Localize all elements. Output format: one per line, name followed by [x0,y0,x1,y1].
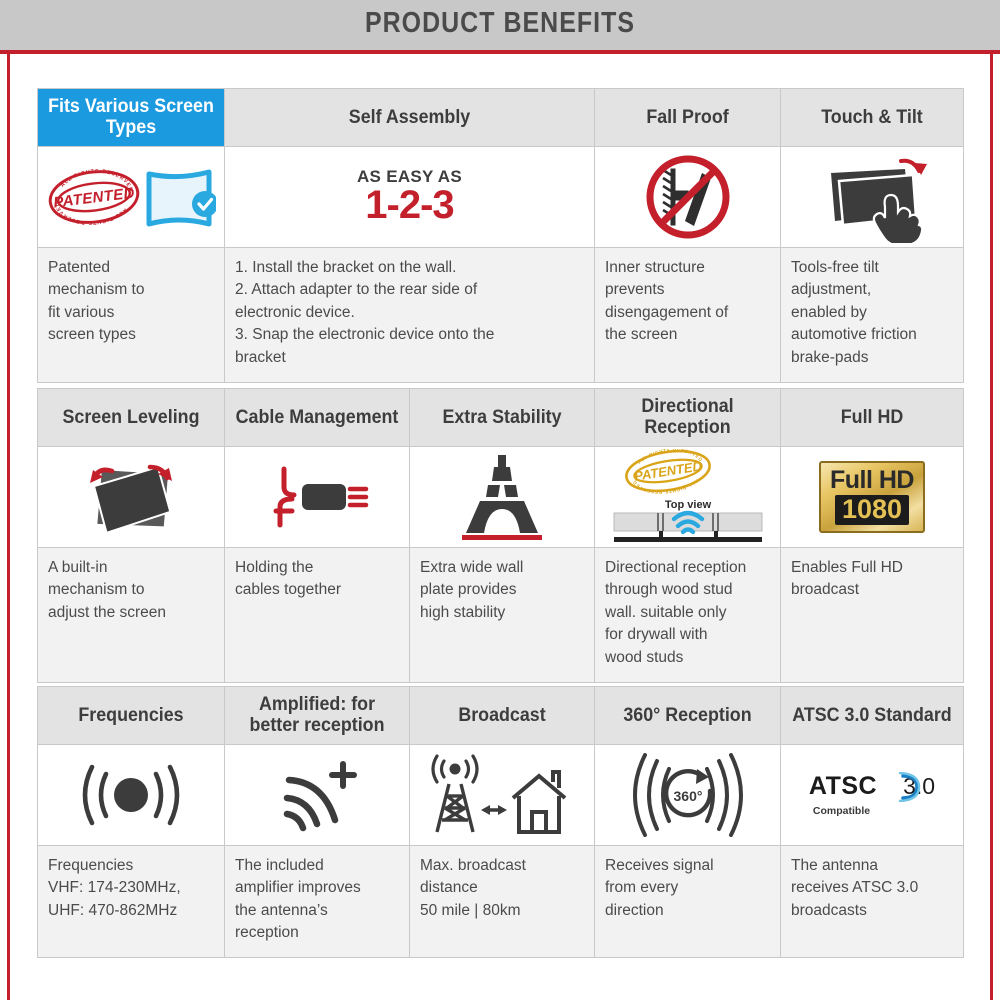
right-red-rail [990,54,993,1000]
cell-header-fall-proof[interactable]: Fall Proof [595,89,781,147]
cell-text-atsc-3-standard: The antenna receives ATSC 3.0 broadcasts [781,845,964,958]
benefit-text: Frequencies VHF: 174-230MHz, UHF: 470-86… [48,855,214,923]
cell-icon-atsc-3-standard: ATSC 3.0 Compatible [781,744,964,845]
page-header-bar: PRODUCT BENEFITS [0,0,1000,50]
benefit-grid-2: Screen Leveling Cable Management Extra S… [37,388,964,683]
cell-icon-cable-management [225,446,410,547]
cell-icon-extra-stability [410,446,595,547]
benefit-table-3: Frequencies Amplified: for better recept… [37,686,963,958]
icon-row: PATENTED ALL RIGHTS RESERVED ALL RIGHTS … [38,446,964,547]
benefit-text: Patented mechanism to fit various screen… [48,257,214,348]
cell-header-amplified[interactable]: Amplified: for better reception [225,687,410,745]
cell-icon-broadcast [410,744,595,845]
fullhd-line-2: 1080 [835,495,909,525]
cell-header-frequencies[interactable]: Frequencies [38,687,225,745]
cell-icon-self-assembly: AS EASY AS 1-2-3 [225,146,595,247]
header-label: Touch & Tilt [790,107,954,128]
atsc-swoosh-icon [895,772,923,802]
atsc-compatible-label: Compatible [813,805,870,817]
header-label: 360° Reception [604,705,770,726]
header-label: Extra Stability [419,407,584,428]
left-red-rail [7,54,10,1000]
header-label: Self Assembly [240,107,579,128]
benefit-text: The included amplifier improves the ante… [235,855,399,946]
tower-base-plate-icon [454,451,550,543]
360-label: 360° [673,788,702,804]
header-label: Broadcast [419,705,584,726]
rotating-screen-icon [72,451,190,543]
cable-bundle-icon [262,457,372,537]
benefit-text: A built-in mechanism to adjust the scree… [48,557,214,625]
benefit-text: The antenna receives ATSC 3.0 broadcasts [791,855,953,923]
radio-waves-icon [76,755,186,835]
cell-header-360-reception[interactable]: 360° Reception [595,687,781,745]
cell-text-cable-management: Holding the cables together [225,547,410,682]
cell-header-broadcast[interactable]: Broadcast [410,687,595,745]
cell-text-full-hd: Enables Full HD broadcast [781,547,964,682]
cell-icon-360-reception: 360° [595,744,781,845]
benefit-grid-3: Frequencies Amplified: for better recept… [37,686,964,958]
cell-header-directional-reception[interactable]: Directional Reception [595,389,781,447]
atsc-word: ATSC [809,772,877,801]
cell-header-screen-leveling[interactable]: Screen Leveling [38,389,225,447]
cell-icon-amplified [225,744,410,845]
touch-tilt-hand-icon [817,151,927,243]
fullhd-line-1: Full HD [830,468,914,493]
cell-header-self-assembly[interactable]: Self Assembly [225,89,595,147]
as-easy-as-123-icon: AS EASY AS 1-2-3 [225,147,594,247]
signal-plus-icon [267,754,367,836]
360-reception-icon: 360° [629,753,747,837]
cell-header-touch-and-tilt[interactable]: Touch & Tilt [781,89,964,147]
benefit-text: Enables Full HD broadcast [791,557,953,602]
full-hd-1080-badge-icon: Full HD 1080 [819,461,925,533]
cell-header-full-hd[interactable]: Full HD [781,389,964,447]
header-label: Directional Reception [604,396,770,439]
cell-text-frequencies: Frequencies VHF: 174-230MHz, UHF: 470-86… [38,845,225,958]
cell-text-fits-various-screen-types: Patented mechanism to fit various screen… [38,247,225,382]
header-label: Frequencies [47,705,214,726]
page-title: PRODUCT BENEFITS [70,0,930,46]
cell-header-cable-management[interactable]: Cable Management [225,389,410,447]
header-label: Full HD [790,407,954,428]
benefit-text: Max. broadcast distance 50 mile | 80km [420,855,584,923]
topview-caption: Top view [664,499,711,511]
cell-text-self-assembly: 1. Install the bracket on the wall. 2. A… [225,247,595,382]
no-falling-screen-icon [642,151,734,243]
cell-icon-touch-and-tilt [781,146,964,247]
text-row: Patented mechanism to fit various screen… [38,247,964,382]
header-label: Fall Proof [604,107,770,128]
benefit-grid-1: Fits Various Screen Types Self Assembly … [37,88,964,383]
benefit-text: 1. Install the bracket on the wall. 2. A… [235,257,584,370]
cell-icon-frequencies [38,744,225,845]
benefit-text: Receives signal from every direction [605,855,770,923]
header-label: Amplified: for better reception [234,694,399,737]
header-row: Fits Various Screen Types Self Assembly … [38,89,964,147]
easy-line-2: 1-2-3 [365,185,453,226]
benefit-table-2: Screen Leveling Cable Management Extra S… [37,388,963,683]
header-label: Fits Various Screen Types [47,96,214,139]
cell-icon-full-hd: Full HD 1080 [781,446,964,547]
benefit-text: Tools-free tilt adjustment, enabled by a… [791,257,953,370]
cell-text-extra-stability: Extra wide wall plate provides high stab… [410,547,595,682]
directional-reception-topview-icon: PATENTED ALL RIGHTS RESERVED ALL RIGHTS … [595,449,780,545]
broadcast-tower-to-house-icon [427,752,577,838]
svg-text:PATENTED: PATENTED [633,458,703,484]
cell-icon-screen-leveling [38,446,225,547]
header-label: ATSC 3.0 Standard [790,705,954,726]
icon-row: PATENTED ALL RIGHTS RESERVED ALL RIGHTS … [38,146,964,247]
patented-stamp-screen-icon: PATENTED ALL RIGHTS RESERVED ALL RIGHTS … [46,154,216,240]
header-row: Screen Leveling Cable Management Extra S… [38,389,964,447]
benefit-text: Directional reception through wood stud … [605,557,770,670]
cell-header-fits-various-screen-types[interactable]: Fits Various Screen Types [38,89,225,147]
cell-text-directional-reception: Directional reception through wood stud … [595,547,781,682]
cell-icon-fall-proof [595,146,781,247]
cell-icon-directional-reception: PATENTED ALL RIGHTS RESERVED ALL RIGHTS … [595,446,781,547]
header-row: Frequencies Amplified: for better recept… [38,687,964,745]
cell-icon-fits-various-screen-types: PATENTED ALL RIGHTS RESERVED ALL RIGHTS … [38,146,225,247]
text-row: Frequencies VHF: 174-230MHz, UHF: 470-86… [38,845,964,958]
atsc-3-compatible-logo-icon: ATSC 3.0 Compatible [809,772,935,817]
cell-text-fall-proof: Inner structure prevents disengagement o… [595,247,781,382]
cell-text-touch-and-tilt: Tools-free tilt adjustment, enabled by a… [781,247,964,382]
benefit-text: Holding the cables together [235,557,399,602]
cell-header-extra-stability[interactable]: Extra Stability [410,389,595,447]
header-red-rule [0,50,1000,54]
cell-text-broadcast: Max. broadcast distance 50 mile | 80km [410,845,595,958]
benefit-text: Inner structure prevents disengagement o… [605,257,770,348]
cell-header-atsc-3-standard[interactable]: ATSC 3.0 Standard [781,687,964,745]
benefit-text: Extra wide wall plate provides high stab… [420,557,584,625]
benefit-table-1: Fits Various Screen Types Self Assembly … [37,88,963,383]
cell-text-amplified: The included amplifier improves the ante… [225,845,410,958]
cell-text-screen-leveling: A built-in mechanism to adjust the scree… [38,547,225,682]
header-label: Screen Leveling [47,407,214,428]
icon-row: 360° ATSC 3.0 Compatible [38,744,964,845]
header-label: Cable Management [234,407,399,428]
cell-text-360-reception: Receives signal from every direction [595,845,781,958]
text-row: A built-in mechanism to adjust the scree… [38,547,964,682]
